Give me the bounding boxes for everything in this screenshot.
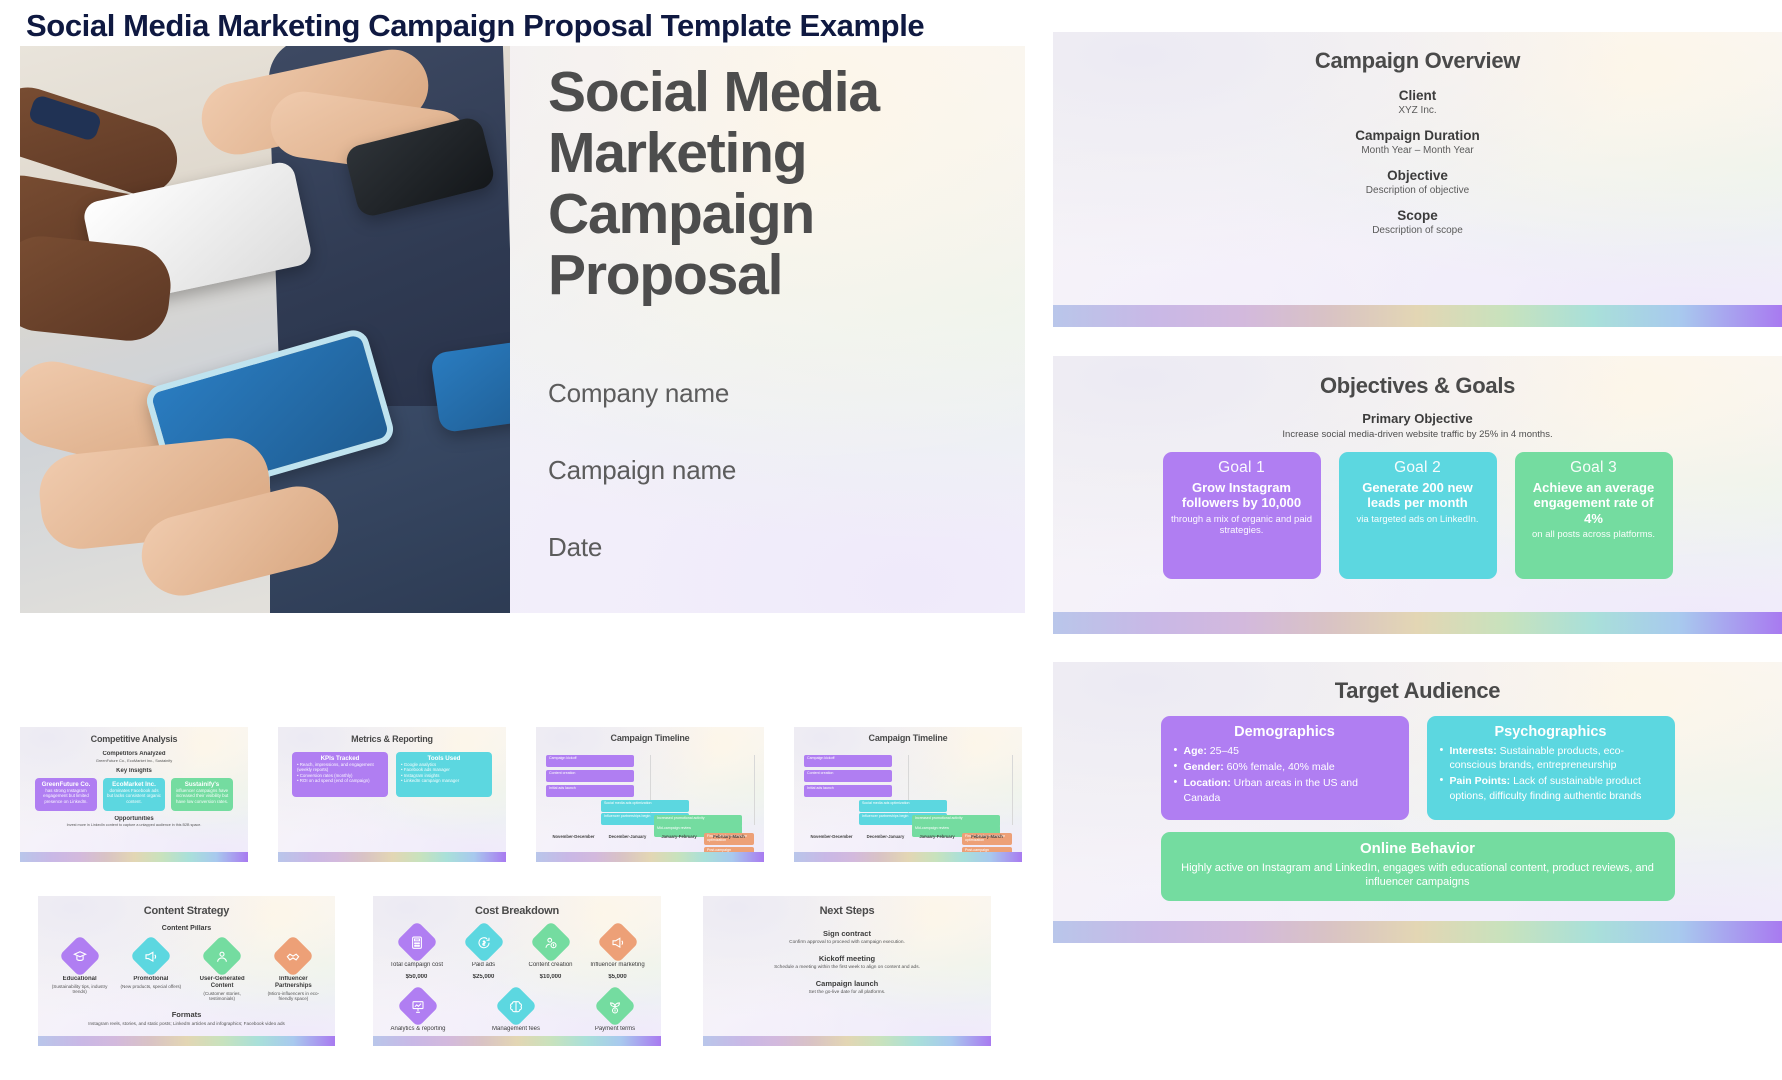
thumb-title: Competitive Analysis [20,734,248,744]
kpi-text: ROI on ad spend (end of campaign) [300,778,370,783]
target-audience-panel[interactable]: Target Audience Demographics Age: 25–45 … [1053,662,1782,943]
pillar-name: Educational [49,976,111,983]
gantt-axis-label: January-February [912,834,962,839]
hero-title: Social Media Marketing Campaign Proposal [548,62,908,306]
gantt-gridline [754,755,755,825]
kpis-tracked-card[interactable]: KPIs Tracked • Reach, impressions, and e… [292,752,388,797]
pillar-desc: (Micro-influencers in eco-friendly space… [262,991,324,1002]
key-insights-label: Key Insights [20,768,248,774]
step-label: Kickoff meeting [703,954,991,963]
step-label: Campaign launch [703,979,991,988]
goal-number: Goal 1 [1171,459,1313,477]
content-strategy-thumbnail[interactable]: Content Strategy Content Pillars Educati… [38,896,335,1046]
gantt-axis-label: December-January [859,834,912,839]
overview-item: Objective Description of objective [1053,168,1782,196]
step-label: Sign contract [703,929,991,938]
next-step-item: Campaign launch Set the go-live date for… [703,979,991,995]
step-desc: Set the go-live date for all platforms. [703,990,991,995]
opportunities-label: Opportunities [20,816,248,822]
gantt-bar[interactable]: Campaign kickoff [546,755,634,767]
cost-item-influencer[interactable]: Influencer marketing $5,000 [588,927,648,981]
next-step-item: Sign contract Confirm approval to procee… [703,929,991,945]
item-label: Age: [1184,745,1207,757]
cost-name: Paid ads [454,962,514,969]
goal-card-row: Goal 1 Grow Instagram followers by 10,00… [1053,452,1782,579]
item-label: Interests: [1450,745,1497,757]
online-behavior-card[interactable]: Online Behavior Highly active on Instagr… [1161,832,1675,901]
next-step-item: Kickoff meeting Schedule a meeting withi… [703,954,991,970]
user-dollar-icon [529,921,571,963]
competitor-note: has strong Instagram engagement but limi… [39,788,93,804]
accent-gradient-bar [373,1036,661,1046]
gantt-bar[interactable]: Content creation [804,770,892,782]
step-desc: Schedule a meeting within the first week… [703,965,991,970]
thumb-title: Campaign Timeline [794,733,1022,743]
item-label: Gender: [1184,761,1224,773]
cost-item-content[interactable]: Content creation $10,000 [521,927,581,981]
cost-breakdown-thumbnail[interactable]: Cost Breakdown Total campaign cost $50,0… [373,896,661,1046]
goal-subtext: on all posts across platforms. [1523,529,1665,540]
target-audience-title: Target Audience [1053,678,1782,704]
competitor-card-2[interactable]: EcoMarket Inc. dominates Facebook ads bu… [103,778,165,811]
pillar-desc: (Sustainability tips, industry trends) [49,984,111,995]
overview-label: Campaign Duration [1053,128,1782,143]
cost-value: $50,000 [387,974,447,981]
accent-gradient-bar [536,852,764,862]
handshake-icon [272,935,314,977]
gantt-bar[interactable]: Initial ads launch [804,785,892,797]
gantt-bar[interactable]: Social media ads optimization [859,800,947,812]
accent-gradient-bar [1053,305,1782,327]
hero-text-block: Social Media Marketing Campaign Proposal… [548,62,1007,563]
thumb-title: Metrics & Reporting [278,734,506,744]
psychographics-list: Interests: Sustainable products, eco-con… [1439,744,1663,803]
goal-headline: Grow Instagram followers by 10,000 [1171,480,1313,511]
competitive-analysis-thumbnail[interactable]: Competitive Analysis Competitors Analyze… [20,727,248,862]
competitor-note: dominates Facebook ads but lacks consist… [107,788,161,804]
list-item: Location: Urban areas in the US and Cana… [1173,776,1397,804]
gantt-axis-label: November-December [546,834,601,839]
objectives-goals-title: Objectives & Goals [1053,373,1782,399]
overview-item: Client XYZ Inc. [1053,88,1782,116]
gantt-chart: Campaign kickoff Content creation Initia… [546,755,754,839]
gantt-axis-label: November-December [804,834,859,839]
gantt-bar[interactable]: Content creation [546,770,634,782]
plant-dollar-icon [594,985,636,1027]
gantt-bar[interactable]: Campaign kickoff [804,755,892,767]
audience-card-row: Demographics Age: 25–45 Gender: 60% fema… [1053,716,1782,820]
formats-value: Instagram reels, stories, and static pos… [38,1021,335,1028]
overview-value: XYZ Inc. [1053,105,1782,116]
campaign-overview-list: Client XYZ Inc. Campaign Duration Month … [1053,88,1782,236]
thumb-title: Content Strategy [38,905,335,917]
kpis-title: KPIs Tracked [297,755,383,762]
book-icon [58,935,100,977]
gantt-chart: Campaign kickoff Content creation Initia… [804,755,1012,839]
megaphone-icon [130,935,172,977]
campaign-timeline-thumbnail-1[interactable]: Campaign Timeline Campaign kickoff Conte… [536,727,764,862]
competitor-name: EcoMarket Inc. [107,781,161,788]
gantt-axis-label: February-March [962,834,1012,839]
cost-value: $10,000 [521,974,581,981]
cost-name: Payment terms [584,1026,646,1033]
competitors-value: GreenFuture Co., EcoMarket Inc., Sustain… [20,758,248,763]
pillar-name: Influencer Partnerships [262,976,324,990]
primary-objective-block: Primary Objective Increase social media-… [1053,411,1782,440]
accent-gradient-bar [794,852,1022,862]
cost-item-total[interactable]: Total campaign cost $50,000 [387,927,447,981]
thumb-title: Campaign Timeline [536,733,764,743]
goal-number: Goal 2 [1347,459,1489,477]
megaphone-icon [596,921,638,963]
pillar-promotional[interactable]: Promotional (New products, special offer… [120,941,182,1002]
pillar-ugc[interactable]: User-Generated Content (Customer stories… [191,941,253,1002]
competitor-card-3[interactable]: Sustainify's influencer campaigns have i… [171,778,233,811]
cost-name: Analytics & reporting [388,1026,448,1033]
demographics-card[interactable]: Demographics Age: 25–45 Gender: 60% fema… [1161,716,1409,820]
goal-subtext: through a mix of organic and paid strate… [1171,514,1313,537]
competitors-label: Competitors Analyzed [20,751,248,757]
competitor-name: GreenFuture Co. [39,781,93,788]
goal-subtext: via targeted ads on LinkedIn. [1347,514,1489,525]
overview-item: Campaign Duration Month Year – Month Yea… [1053,128,1782,156]
accent-gradient-bar [703,1036,991,1046]
gantt-axis-label: December-January [601,834,654,839]
tools-used-card[interactable]: Tools Used • Google analytics • Facebook… [396,752,492,797]
tool-text: LinkedIn campaign manager [404,778,459,783]
overview-label: Scope [1053,208,1782,223]
hero-company-name[interactable]: Company name [548,378,1007,409]
gantt-bar[interactable]: Social media ads optimization [601,800,689,812]
calculator-icon [395,921,437,963]
hero-photo [20,46,510,613]
pillar-desc: (Customer stories, testimonials) [191,991,253,1002]
gantt-axis-label: January-February [654,834,704,839]
list-item: Interests: Sustainable products, eco-con… [1439,744,1663,772]
hero-campaign-name[interactable]: Campaign name [548,455,1007,486]
pillar-name: User-Generated Content [191,976,253,990]
pillar-desc: (New products, special offers) [120,984,182,990]
cost-name: Influencer marketing [588,962,648,969]
cost-value: $5,000 [588,974,648,981]
accent-gradient-bar [38,1036,335,1046]
cost-value: $25,000 [454,974,514,981]
metrics-reporting-thumbnail[interactable]: Metrics & Reporting KPIs Tracked • Reach… [278,727,506,862]
demographics-list: Age: 25–45 Gender: 60% female, 40% male … [1173,744,1397,805]
goal-number: Goal 3 [1523,459,1665,477]
competitor-name: Sustainify's [175,781,229,788]
goal-card-3[interactable]: Goal 3 Achieve an average engagement rat… [1515,452,1673,579]
item-value: 60% female, 40% male [1224,761,1335,773]
accent-gradient-bar [278,852,506,862]
overview-value: Description of objective [1053,185,1782,196]
primary-objective-label: Primary Objective [1053,411,1782,426]
user-icon [201,935,243,977]
gantt-axis-label: February-March [704,834,754,839]
accent-gradient-bar [20,852,248,862]
opportunities-value: Invest more in LinkedIn content to captu… [20,823,248,827]
pillar-name: Promotional [120,976,182,983]
page-root: Social Media Marketing Campaign Proposal… [0,0,1782,1080]
list-item: Pain Points: Lack of sustainable product… [1439,774,1663,802]
thumb-title: Next Steps [703,905,991,917]
tool-item: • LinkedIn campaign manager [401,778,487,783]
goal-headline: Achieve an average engagement rate of 4% [1523,480,1665,526]
item-label: Location: [1184,777,1231,789]
competitor-card-1[interactable]: GreenFuture Co. has strong Instagram eng… [35,778,97,811]
psychographics-title: Psychographics [1439,724,1663,740]
list-item: Gender: 60% female, 40% male [1173,760,1397,774]
goal-headline: Generate 200 new leads per month [1347,480,1489,511]
primary-objective-value: Increase social media-driven website tra… [1053,429,1782,440]
refresh-dollar-icon [462,921,504,963]
item-value: 25–45 [1207,745,1239,757]
list-item: Age: 25–45 [1173,744,1397,758]
demographics-title: Demographics [1173,724,1397,740]
overview-item: Scope Description of scope [1053,208,1782,236]
campaign-overview-title: Campaign Overview [1053,48,1782,74]
item-label: Pain Points: [1450,775,1511,787]
step-desc: Confirm approval to proceed with campaig… [703,940,991,945]
overview-value: Description of scope [1053,225,1782,236]
goal-card-1[interactable]: Goal 1 Grow Instagram followers by 10,00… [1163,452,1321,579]
accent-gradient-bar [1053,612,1782,634]
tools-title: Tools Used [401,755,487,762]
gantt-bar[interactable]: Initial ads launch [546,785,634,797]
online-behavior-text: Highly active on Instagram and LinkedIn,… [1175,861,1661,890]
campaign-timeline-thumbnail-2[interactable]: Campaign Timeline Campaign kickoff Conte… [794,727,1022,862]
gantt-gridline [1012,755,1013,825]
formats-label: Formats [38,1010,335,1019]
hero-slide[interactable]: Social Media Marketing Campaign Proposal… [20,46,1025,613]
goal-card-2[interactable]: Goal 2 Generate 200 new leads per month … [1339,452,1497,579]
kpi-item: • ROI on ad spend (end of campaign) [297,778,383,783]
overview-value: Month Year – Month Year [1053,145,1782,156]
hero-date[interactable]: Date [548,532,1007,563]
accent-gradient-bar [1053,921,1782,943]
photo-phone-blue-2 [430,339,510,434]
overview-label: Client [1053,88,1782,103]
cost-name: Management fees [486,1026,546,1033]
pillar-influencer[interactable]: Influencer Partnerships (Micro-influence… [262,941,324,1002]
psychographics-card[interactable]: Psychographics Interests: Sustainable pr… [1427,716,1675,820]
competitor-note: influencer campaigns have increased thei… [175,788,229,804]
page-title: Social Media Marketing Campaign Proposal… [26,8,924,44]
cost-item-paid-ads[interactable]: Paid ads $25,000 [454,927,514,981]
next-steps-thumbnail[interactable]: Next Steps Sign contract Confirm approva… [703,896,991,1046]
campaign-overview-panel[interactable]: Campaign Overview Client XYZ Inc. Campai… [1053,32,1782,327]
kpi-item: • Reach, impressions, and engagement (we… [297,762,383,772]
overview-label: Objective [1053,168,1782,183]
online-behavior-title: Online Behavior [1175,840,1661,857]
chart-board-icon [397,985,439,1027]
cost-name: Content creation [521,962,581,969]
objectives-goals-panel[interactable]: Objectives & Goals Primary Objective Inc… [1053,356,1782,634]
thumb-title: Cost Breakdown [373,905,661,917]
brain-icon [495,985,537,1027]
content-pillars-label: Content Pillars [38,925,335,932]
cost-name: Total campaign cost [387,962,447,969]
kpi-text: Reach, impressions, and engagement (week… [297,762,374,772]
pillar-educational[interactable]: Educational (Sustainability tips, indust… [49,941,111,1002]
